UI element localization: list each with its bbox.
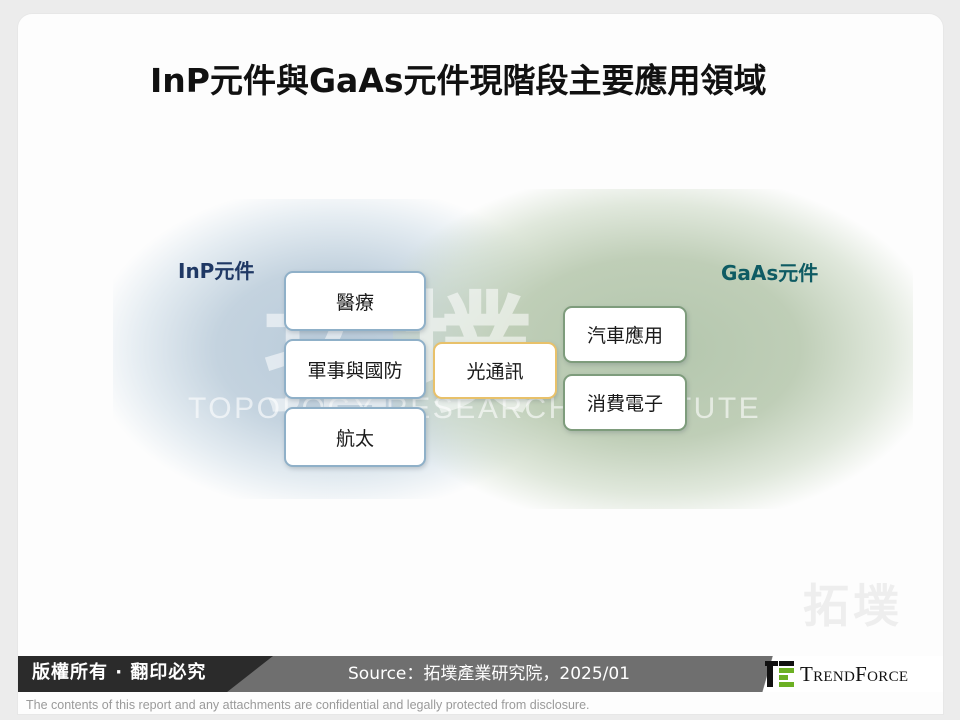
watermark-corner: 拓墣	[803, 570, 903, 636]
page-title: InP元件與GaAs元件現階段主要應用領域	[150, 54, 767, 102]
trendforce-wordmark: TrendForce	[800, 664, 908, 685]
footer-copyright-text: 版權所有 · 翻印必究	[32, 658, 206, 684]
application-box-consumer-electronics[interactable]: 消費電子	[563, 374, 687, 431]
trendforce-mark-icon	[765, 661, 794, 687]
application-box-automotive[interactable]: 汽車應用	[563, 306, 687, 363]
application-box-military-defense[interactable]: 軍事與國防	[284, 339, 426, 399]
inp-group-label: InP元件	[178, 255, 254, 284]
application-box-optical-communication[interactable]: 光通訊	[433, 342, 557, 399]
trendforce-logo: TrendForce	[765, 661, 908, 687]
gaas-group-label: GaAs元件	[721, 257, 818, 286]
slide-canvas: 拓墣 TOPOLOGY RESEARCH INSTITUTE 拓墣 InP元件與…	[18, 14, 943, 714]
footer-source-text: Source：拓墣產業研究院，2025/01	[348, 659, 630, 684]
footer: 版權所有 · 翻印必究 Source：拓墣產業研究院，2025/01 Trend…	[0, 646, 960, 720]
footer-disclaimer: The contents of this report and any atta…	[26, 698, 590, 712]
application-box-medical[interactable]: 醫療	[284, 271, 426, 331]
application-box-aerospace[interactable]: 航太	[284, 407, 426, 467]
